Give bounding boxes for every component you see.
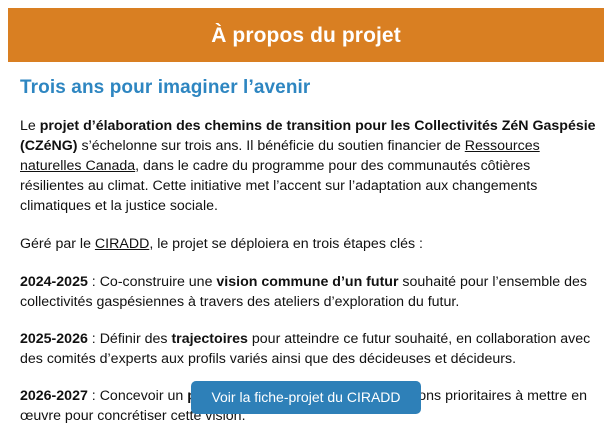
- paragraph-intro: Le projet d’élaboration des chemins de t…: [20, 116, 596, 216]
- content-area: Trois ans pour imaginer l’avenir Le proj…: [20, 76, 596, 426]
- phase-separator: :: [88, 331, 100, 347]
- section-heading: Trois ans pour imaginer l’avenir: [20, 76, 596, 100]
- phase-bold-term: vision commune d’un futur: [216, 274, 398, 290]
- about-project-page: À propos du projet Trois ans pour imagin…: [0, 0, 612, 428]
- phase-separator: :: [88, 274, 100, 290]
- link-ciradd[interactable]: CIRADD: [95, 236, 149, 252]
- view-project-sheet-button[interactable]: Voir la fiche-projet du CIRADD: [191, 381, 420, 414]
- phase-text-1: Définir des: [100, 331, 172, 347]
- cta-container: Voir la fiche-projet du CIRADD: [0, 381, 612, 414]
- paragraph-phase-2024-2025: 2024-2025 : Co-construire une vision com…: [20, 272, 596, 312]
- intro-text-2: s’échelonne sur trois ans. Il bénéficie …: [78, 138, 465, 154]
- phase-bold-term: trajectoires: [171, 331, 248, 347]
- lead-text-2: , le projet se déploiera en trois étapes…: [149, 236, 423, 252]
- paragraph-phase-2025-2026: 2025-2026 : Définir des trajectoires pou…: [20, 329, 596, 369]
- paragraph-lead: Géré par le CIRADD, le projet se déploie…: [20, 234, 596, 254]
- phase-years: 2025-2026: [20, 331, 88, 347]
- intro-text-1: Le: [20, 118, 40, 134]
- lead-text-1: Géré par le: [20, 236, 95, 252]
- phase-years: 2024-2025: [20, 274, 88, 290]
- page-banner: À propos du projet: [8, 8, 604, 62]
- banner-title: À propos du projet: [211, 25, 401, 46]
- phase-text-1: Co-construire une: [100, 274, 217, 290]
